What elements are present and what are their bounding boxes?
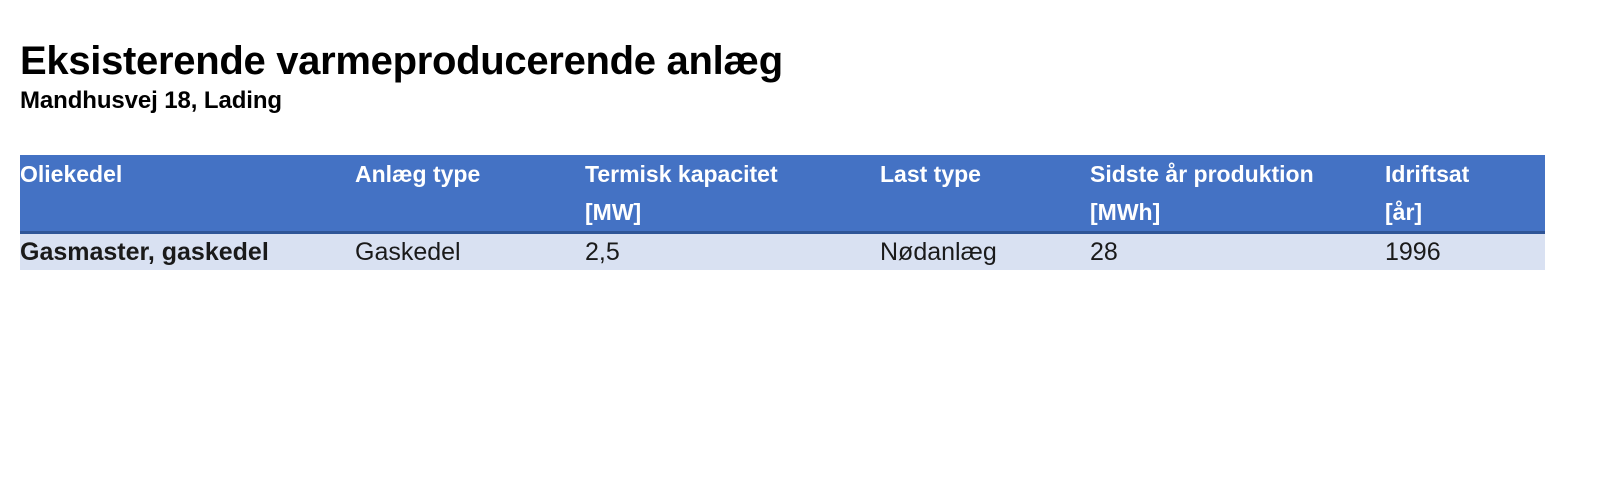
cell-sidste-aar-produktion: 28 [1090, 233, 1385, 271]
cell-termisk-kapacitet: 2,5 [585, 233, 880, 271]
column-header-sidste-aar-produktion: Sidste år produktion [MWh] [1090, 155, 1385, 233]
heat-production-plant-table: Oliekedel Anlæg type Termisk kapacitet [… [20, 155, 1545, 270]
column-header-termisk-kapacitet-unit: [MW] [585, 193, 880, 231]
cell-idriftsat: 1996 [1385, 233, 1545, 271]
column-header-anlaeg-type: Anlæg type [355, 155, 585, 233]
column-header-oliekedel-label: Oliekedel [20, 161, 122, 187]
column-header-oliekedel: Oliekedel [20, 155, 355, 233]
column-header-idriftsat-unit: [år] [1385, 193, 1545, 231]
cell-oliekedel: Gasmaster, gaskedel [20, 233, 355, 271]
page-subtitle-address: Mandhusvej 18, Lading [20, 86, 1580, 116]
plant-table-container: Oliekedel Anlæg type Termisk kapacitet [… [20, 155, 1545, 270]
column-header-last-type: Last type [880, 155, 1090, 233]
table-row: Gasmaster, gaskedel Gaskedel 2,5 Nødanlæ… [20, 233, 1545, 271]
column-header-sidste-aar-produktion-label: Sidste år produktion [1090, 161, 1314, 187]
table-header-row: Oliekedel Anlæg type Termisk kapacitet [… [20, 155, 1545, 233]
column-header-idriftsat: Idriftsat [år] [1385, 155, 1545, 233]
column-header-last-type-label: Last type [880, 161, 981, 187]
cell-last-type: Nødanlæg [880, 233, 1090, 271]
column-header-termisk-kapacitet: Termisk kapacitet [MW] [585, 155, 880, 233]
column-header-termisk-kapacitet-label: Termisk kapacitet [585, 161, 778, 187]
page-title: Eksisterende varmeproducerende anlæg [20, 38, 1580, 84]
page-root: { "page": { "title": "Eksisterende varme… [0, 0, 1607, 503]
column-header-anlaeg-type-label: Anlæg type [355, 161, 480, 187]
table-body: Gasmaster, gaskedel Gaskedel 2,5 Nødanlæ… [20, 233, 1545, 271]
cell-anlaeg-type: Gaskedel [355, 233, 585, 271]
table-head: Oliekedel Anlæg type Termisk kapacitet [… [20, 155, 1545, 233]
column-header-sidste-aar-produktion-unit: [MWh] [1090, 193, 1385, 231]
heading-block: Eksisterende varmeproducerende anlæg Man… [20, 38, 1580, 116]
column-header-idriftsat-label: Idriftsat [1385, 161, 1469, 187]
